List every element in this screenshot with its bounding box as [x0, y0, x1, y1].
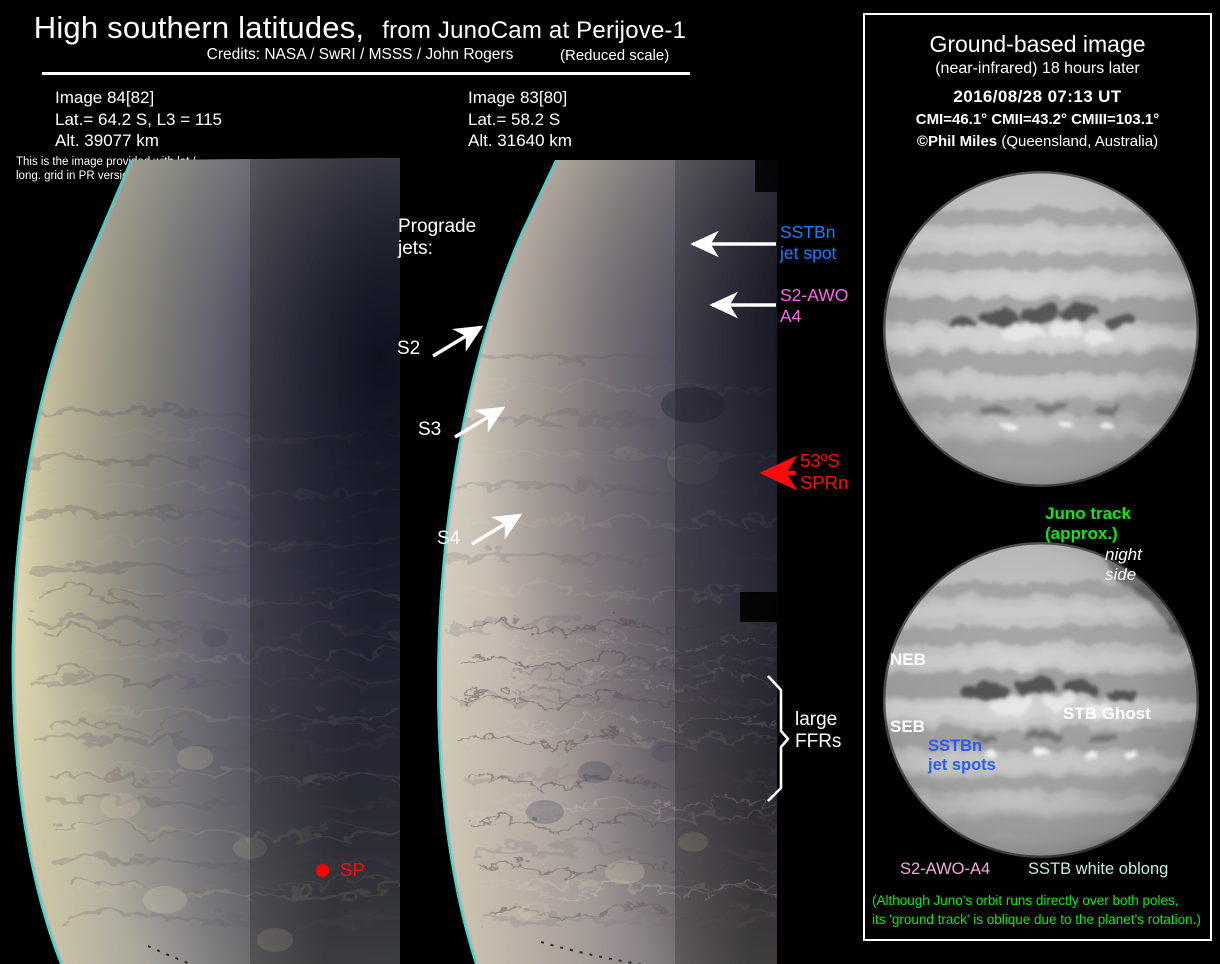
jupiter-disk-top — [880, 168, 1202, 490]
ground-based-image-panel: Ground-based image (near-infrared) 18 ho… — [863, 13, 1212, 941]
label-s2: S2 — [397, 338, 420, 360]
right-panel-footnote: (Although Juno's orbit runs directly ove… — [872, 891, 1201, 929]
label-s4: S4 — [437, 528, 460, 550]
label-large-ffrs: large FFRs — [795, 709, 841, 754]
label-sstbn-jet-spot: SSTBn jet spot — [780, 222, 836, 263]
label-s2-awo-a4-right: S2-AWO-A4 — [900, 860, 990, 879]
right-panel-subtitle: (near-infrared) 18 hours later — [865, 60, 1210, 78]
author-location: (Queensland, Australia) — [997, 133, 1158, 150]
jupiter-disk-bottom — [880, 539, 1202, 861]
label-s2-awo-a4: S2-AWO A4 — [780, 285, 848, 326]
label-s3: S3 — [418, 419, 441, 441]
label-sstbn-jet-spots: SSTBn jet spots — [928, 737, 996, 776]
central-meridian-values: CMI=46.1° CMII=43.2° CMIII=103.1° — [865, 111, 1210, 128]
left-image-caption: Image 84[82] Lat.= 64.2 S, L3 = 115 Alt.… — [55, 87, 222, 152]
label-prograde-jets: Prograde jets: — [398, 216, 476, 261]
mid-image-caption: Image 83[80] Lat.= 58.2 S Alt. 31640 km — [468, 87, 572, 152]
label-neb: NEB — [890, 650, 926, 670]
south-pole-marker-dot — [316, 864, 329, 877]
credits-text: Credits: NASA / SwRI / MSSS / John Roger… — [207, 46, 514, 63]
label-53s-sprn: 53ºS SPRn — [800, 450, 848, 494]
title-sub-text: from JunoCam at Perijove-1 — [382, 17, 686, 44]
observation-datetime: 2016/08/28 07:13 UT — [865, 87, 1210, 107]
junocam-image-84 — [0, 158, 400, 964]
title-main-text: High southern latitudes, — [34, 10, 365, 45]
image-author: ©Phil Miles (Queensland, Australia) — [865, 133, 1210, 150]
label-stb-ghost: STB Ghost — [1063, 704, 1151, 724]
label-seb: SEB — [890, 717, 925, 737]
label-sstb-white-oblong: SSTB white oblong — [1028, 860, 1168, 879]
junocam-image-83 — [425, 152, 810, 964]
label-night-side: night side — [1105, 545, 1142, 585]
title-divider — [42, 72, 690, 75]
poster-canvas: High southern latitudes,from JunoCam at … — [0, 0, 1220, 964]
right-panel-title: Ground-based image — [865, 31, 1210, 58]
label-juno-track: Juno track (approx.) — [1045, 504, 1131, 544]
author-mark: ©Phil Miles — [917, 133, 997, 150]
reduced-scale-note: (Reduced scale) — [560, 47, 669, 64]
label-south-pole: SP — [340, 859, 365, 881]
page-title: High southern latitudes,from JunoCam at … — [0, 10, 720, 46]
